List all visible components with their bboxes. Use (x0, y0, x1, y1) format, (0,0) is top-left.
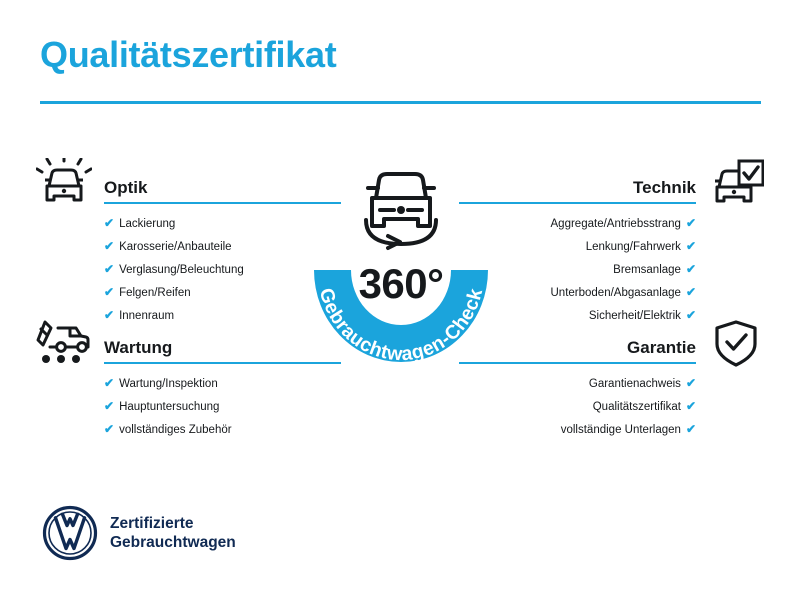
certificate-page: Qualitätszertifikat (0, 0, 800, 600)
list-item-label: Karosserie/Anbauteile (119, 241, 232, 254)
list-item-label: vollständige Unterlagen (561, 424, 681, 437)
list-item: ✔ vollständiges Zubehör (104, 418, 336, 441)
footer-logo-text: Zertifizierte Gebrauchtwagen (110, 514, 236, 552)
section-wartung-title: Wartung (104, 338, 172, 358)
check-icon: ✔ (104, 263, 114, 276)
check-icon: ✔ (686, 217, 696, 230)
car-rotate-icon (366, 174, 436, 248)
list-item-label: Qualitätszertifikat (593, 401, 681, 414)
check-icon: ✔ (686, 377, 696, 390)
section-technik: Technik ✔ Aggregate/Antriebsstrang ✔ Len… (464, 160, 764, 328)
list-item-label: Hauptuntersuchung (119, 401, 219, 414)
list-item-label: Lackierung (119, 218, 175, 231)
list-item: ✔ Qualitätszertifikat (464, 395, 696, 418)
list-item-label: Aggregate/Antriebsstrang (551, 218, 681, 231)
list-item-label: Garantienachweis (589, 378, 681, 391)
volkswagen-logo (42, 505, 98, 561)
header: Qualitätszertifikat (40, 34, 760, 76)
list-item-label: vollständiges Zubehör (119, 424, 232, 437)
list-item-label: Lenkung/Fahrwerk (586, 241, 681, 254)
check-icon: ✔ (104, 240, 114, 253)
list-item-label: Verglasung/Beleuchtung (119, 264, 244, 277)
badge-number: 360° (296, 262, 506, 306)
list-item-label: Felgen/Reifen (119, 287, 191, 300)
list-item: ✔ Hauptuntersuchung (104, 395, 336, 418)
check-icon: ✔ (686, 400, 696, 413)
shield-check-icon (708, 318, 764, 370)
check-icon: ✔ (104, 400, 114, 413)
title-divider (40, 101, 761, 104)
page-title: Qualitätszertifikat (40, 34, 760, 76)
check-icon: ✔ (686, 286, 696, 299)
car-shine-icon (36, 158, 92, 210)
footer-logo: Zertifizierte Gebrauchtwagen (42, 505, 236, 561)
section-wartung-header: Wartung (36, 320, 336, 372)
check-icon: ✔ (686, 263, 696, 276)
section-optik-title: Optik (104, 178, 147, 198)
pen-car-service-icon (36, 318, 92, 370)
360-gebrauchtwagen-check-badge: Gebrauchtwagen-Check 360° (296, 152, 506, 382)
section-wartung: Wartung ✔ Wartung/Inspektion ✔ Hauptunte… (36, 320, 336, 442)
section-garantie: Garantie ✔ Garantienachweis ✔ Qualitätsz… (464, 320, 764, 442)
section-optik-header: Optik (36, 160, 336, 212)
section-technik-header: Technik (464, 160, 764, 212)
footer-logo-line1: Zertifizierte (110, 514, 236, 533)
section-optik: Optik ✔ Lackierung ✔ Karosserie/Anbautei… (36, 160, 336, 328)
check-icon: ✔ (686, 423, 696, 436)
section-wartung-list: ✔ Wartung/Inspektion ✔ Hauptuntersuchung… (104, 372, 336, 442)
check-icon: ✔ (104, 217, 114, 230)
list-item: ✔ vollständige Unterlagen (464, 418, 696, 441)
check-icon: ✔ (104, 423, 114, 436)
list-item-label: Unterboden/Abgasanlage (551, 287, 681, 300)
list-item-label: Wartung/Inspektion (119, 378, 218, 391)
section-technik-title: Technik (633, 178, 696, 198)
footer-logo-line2: Gebrauchtwagen (110, 533, 236, 552)
section-garantie-list: ✔ Garantienachweis ✔ Qualitätszertifikat… (464, 372, 696, 442)
section-garantie-title: Garantie (627, 338, 696, 358)
list-item-label: Bremsanlage (613, 264, 681, 277)
car-checkbox-icon (708, 158, 764, 210)
check-icon: ✔ (104, 377, 114, 390)
section-garantie-header: Garantie (464, 320, 764, 372)
check-icon: ✔ (104, 286, 114, 299)
check-icon: ✔ (686, 240, 696, 253)
